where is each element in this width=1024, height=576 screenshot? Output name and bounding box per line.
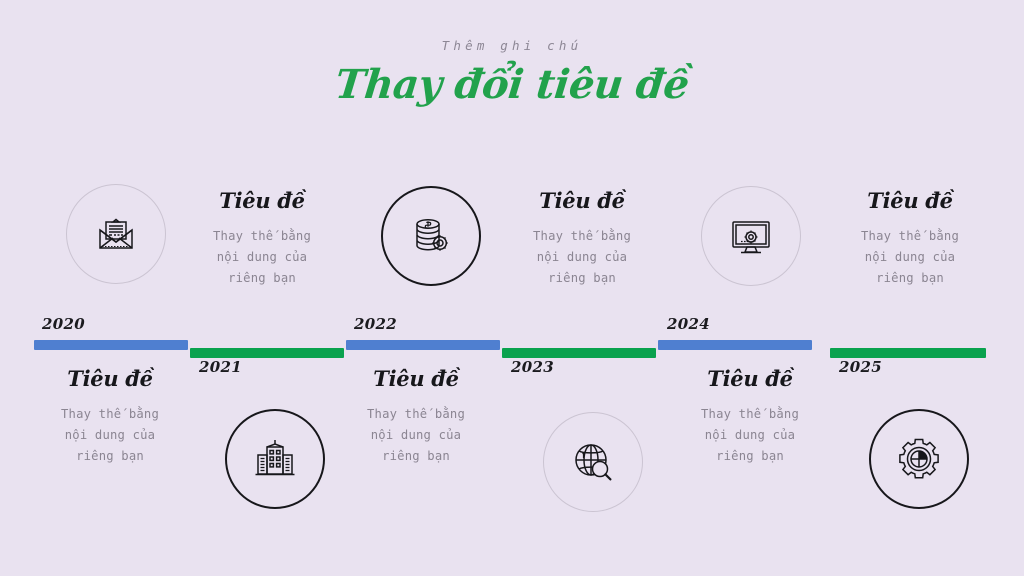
- timeline-segment-2024[interactable]: [658, 340, 812, 350]
- body-line: Thay thế bằng: [20, 404, 200, 425]
- timeline-segment-2020[interactable]: [34, 340, 188, 350]
- body-line: Thay thế bằng: [326, 404, 506, 425]
- text-block-top-3: Tiêu đề Thay thế bằng nội dung của riêng…: [820, 188, 1000, 289]
- timeline-infographic-slide: Thêm ghi chú Thay đổi tiêu đề: [0, 0, 1024, 576]
- icon-circle-building[interactable]: [225, 409, 325, 509]
- timeline-segment-2023[interactable]: [502, 348, 656, 358]
- text-block-top-1: Tiêu đề Thay thế bằng nội dung của riêng…: [172, 188, 352, 289]
- icon-circle-mail[interactable]: [66, 184, 166, 284]
- timeline-year-2025: 2025: [839, 358, 882, 376]
- body-line: Thay thế bằng: [492, 226, 672, 247]
- body-line: Thay thế bằng: [820, 226, 1000, 247]
- timeline-axis: 2020 2021 2022 2023 2024 2025: [0, 330, 1024, 370]
- gear-piechart-icon: [893, 433, 945, 485]
- body-line: Thay thế bằng: [172, 226, 352, 247]
- block-body: Thay thế bằng nội dung của riêng bạn: [20, 404, 200, 467]
- slide-title: Thay đổi tiêu đề: [0, 61, 1024, 108]
- body-line: nội dung của: [820, 247, 1000, 268]
- icon-circle-globe-search[interactable]: [543, 412, 643, 512]
- timeline-year-2021: 2021: [199, 358, 242, 376]
- block-body: Thay thế bằng nội dung của riêng bạn: [820, 226, 1000, 289]
- block-title: Tiêu đề: [172, 188, 352, 213]
- block-body: Thay thế bằng nội dung của riêng bạn: [172, 226, 352, 289]
- body-line: riêng bạn: [820, 268, 1000, 289]
- block-title: Tiêu đề: [660, 366, 840, 391]
- body-line: riêng bạn: [492, 268, 672, 289]
- coins-gear-icon: [405, 210, 457, 262]
- timeline-segment-2022[interactable]: [346, 340, 500, 350]
- timeline-year-2023: 2023: [511, 358, 554, 376]
- mail-envelope-icon: [90, 208, 142, 260]
- text-block-top-2: Tiêu đề Thay thế bằng nội dung của riêng…: [492, 188, 672, 289]
- globe-search-icon: [567, 436, 619, 488]
- block-body: Thay thế bằng nội dung của riêng bạn: [660, 404, 840, 467]
- timeline-year-2020: 2020: [42, 315, 85, 333]
- block-title: Tiêu đề: [20, 366, 200, 391]
- icon-circle-monitor[interactable]: [701, 186, 801, 286]
- timeline-year-2024: 2024: [667, 315, 710, 333]
- text-block-bottom-3: Tiêu đề Thay thế bằng nội dung của riêng…: [660, 366, 840, 467]
- body-line: riêng bạn: [172, 268, 352, 289]
- block-title: Tiêu đề: [820, 188, 1000, 213]
- timeline-year-2022: 2022: [354, 315, 397, 333]
- icon-circle-gear-chart[interactable]: [869, 409, 969, 509]
- slide-kicker: Thêm ghi chú: [0, 38, 1024, 53]
- body-line: nội dung của: [172, 247, 352, 268]
- block-body: Thay thế bằng nội dung của riêng bạn: [492, 226, 672, 289]
- text-block-bottom-1: Tiêu đề Thay thế bằng nội dung của riêng…: [20, 366, 200, 467]
- timeline-segment-2021[interactable]: [190, 348, 344, 358]
- block-body: Thay thế bằng nội dung của riêng bạn: [326, 404, 506, 467]
- body-line: nội dung của: [492, 247, 672, 268]
- icon-circle-coins[interactable]: [381, 186, 481, 286]
- body-line: nội dung của: [326, 425, 506, 446]
- office-building-icon: [249, 433, 301, 485]
- body-line: riêng bạn: [660, 446, 840, 467]
- block-title: Tiêu đề: [326, 366, 506, 391]
- body-line: nội dung của: [20, 425, 200, 446]
- body-line: riêng bạn: [20, 446, 200, 467]
- body-line: nội dung của: [660, 425, 840, 446]
- block-title: Tiêu đề: [492, 188, 672, 213]
- monitor-gear-icon: [725, 210, 777, 262]
- body-line: riêng bạn: [326, 446, 506, 467]
- text-block-bottom-2: Tiêu đề Thay thế bằng nội dung của riêng…: [326, 366, 506, 467]
- body-line: Thay thế bằng: [660, 404, 840, 425]
- timeline-segment-2025[interactable]: [830, 348, 986, 358]
